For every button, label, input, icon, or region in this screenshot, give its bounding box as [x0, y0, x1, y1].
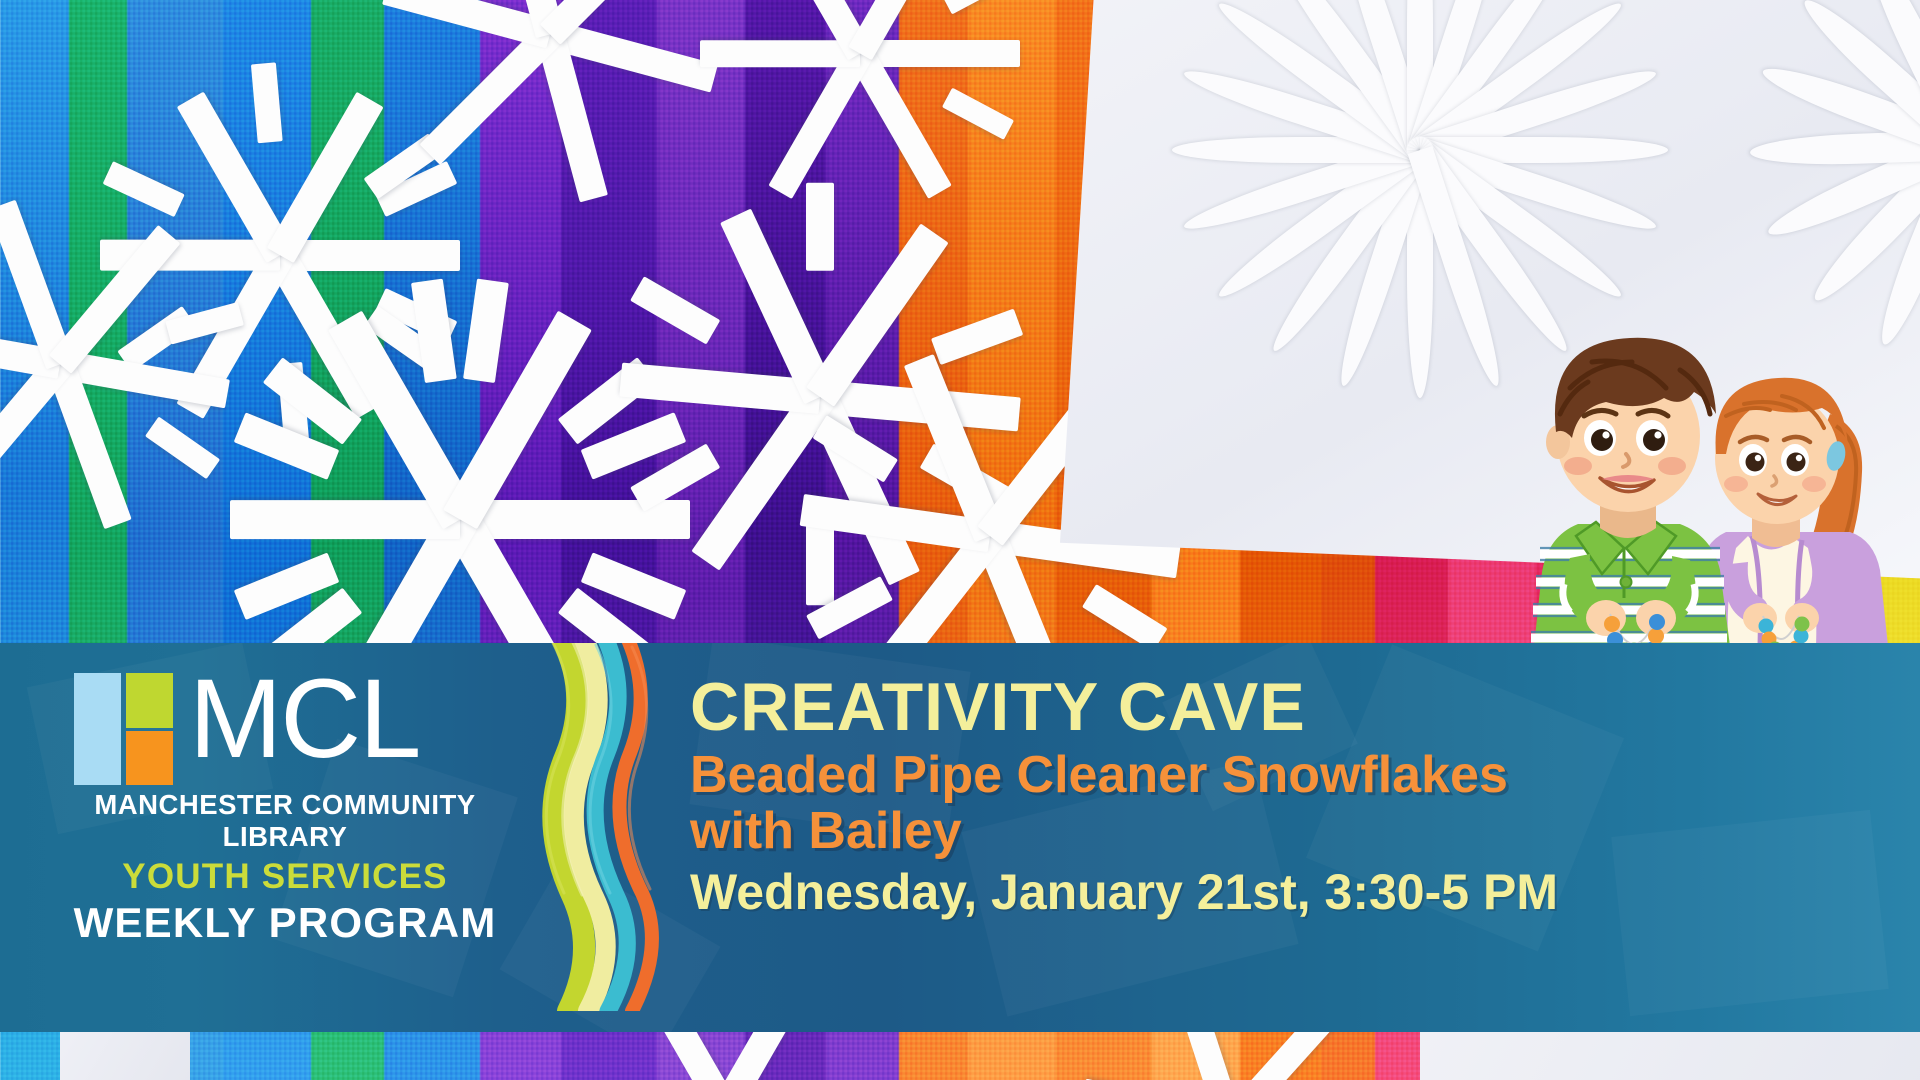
paper-snowflake	[380, 0, 720, 190]
logo-swatch-orange	[126, 731, 173, 785]
event-copy: CREATIVITY CAVE Beaded Pipe Cleaner Snow…	[690, 673, 1880, 920]
event-subtitle-line2: with Bailey	[690, 803, 1880, 859]
program-type-label: WEEKLY PROGRAM	[60, 899, 510, 947]
department-label: YOUTH SERVICES	[60, 857, 510, 897]
mcl-logo-lockup[interactable]: MCL MANCHESTER COMMUNITY LIBRARY YOUTH S…	[60, 673, 510, 947]
library-name: MANCHESTER COMMUNITY LIBRARY	[60, 789, 510, 853]
boy-figure	[1531, 338, 1730, 646]
children-illustration	[1530, 296, 1890, 646]
info-banner: MCL MANCHESTER COMMUNITY LIBRARY YOUTH S…	[0, 643, 1920, 1032]
mcl-logo-mark	[74, 673, 173, 785]
program-flyer: MCL MANCHESTER COMMUNITY LIBRARY YOUTH S…	[0, 0, 1920, 1080]
event-title: CREATIVITY CAVE	[690, 673, 1880, 741]
event-subtitle: Beaded Pipe Cleaner Snowflakes with Bail…	[690, 747, 1880, 859]
logo-swatch-lightblue	[74, 673, 121, 785]
event-datetime: Wednesday, January 21st, 3:30-5 PM	[690, 865, 1880, 920]
paper-snowflake	[0, 180, 230, 520]
event-subtitle-line1: Beaded Pipe Cleaner Snowflakes	[690, 747, 1880, 803]
logo-letters: MCL	[189, 667, 419, 770]
paper-snowflake	[700, 0, 1020, 200]
logo-swatch-green	[126, 673, 173, 728]
brush-stroke-divider	[540, 643, 670, 1011]
